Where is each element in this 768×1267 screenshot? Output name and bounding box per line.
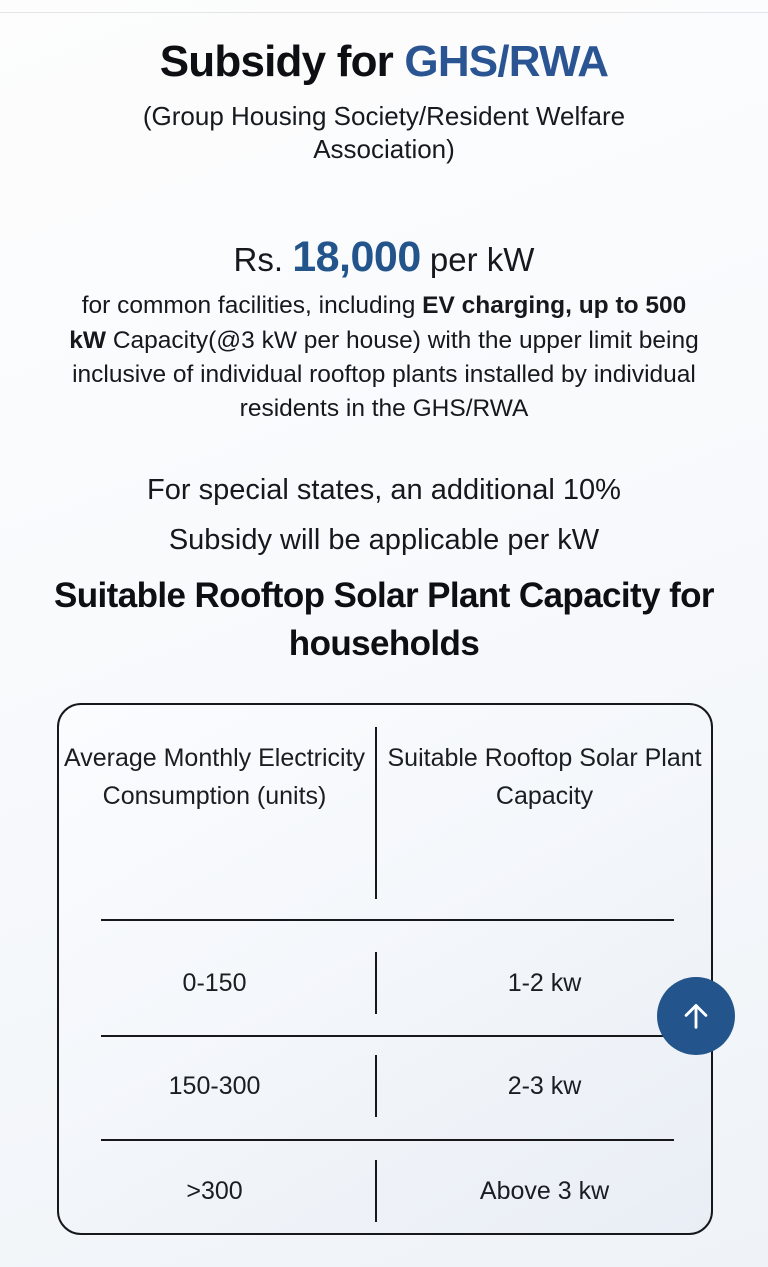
special-states-line-2: Subsidy will be applicable per kW [54,516,714,566]
page-title-main: Subsidy for [160,37,405,86]
table-row: 0-150 1-2 kw [59,968,711,998]
content-column: Subsidy for GHS/RWA (Group Housing Socie… [0,0,768,667]
cell-capacity: 2-3 kw [374,1071,711,1101]
rate-note: for common facilities, including EV char… [64,289,704,426]
capacity-table: Average Monthly Electricity Consumption … [59,705,711,1233]
special-states-line-1: For special states, an additional 10% [54,466,714,516]
capacity-table-card: Average Monthly Electricity Consumption … [57,703,713,1235]
table-header-consumption: Average Monthly Electricity Consumption … [59,739,374,815]
table-rule-1 [101,919,674,921]
page-title: Subsidy for GHS/RWA [30,38,738,86]
table-row: 150-300 2-3 kw [59,1071,711,1101]
page-subtitle: (Group Housing Society/Resident Welfare … [94,100,674,168]
scroll-to-top-button[interactable] [657,977,735,1055]
table-header-capacity: Suitable Rooftop Solar Plant Capacity [374,739,711,815]
rate-suffix: per kW [430,241,535,278]
rate-note-part2: Capacity(@3 kW per house) with the upper… [72,327,699,423]
rate-amount: 18,000 [292,233,421,281]
page-title-accent: GHS/RWA [404,37,608,86]
table-rule-2 [101,1035,674,1037]
cell-capacity: 1-2 kw [374,968,711,998]
cell-consumption: 150-300 [59,1071,374,1101]
cell-consumption: 0-150 [59,968,374,998]
page-root: Subsidy for GHS/RWA (Group Housing Socie… [0,0,768,1267]
cell-capacity: Above 3 kw [374,1176,711,1206]
table-rule-3 [101,1139,674,1141]
arrow-up-icon [678,998,714,1034]
rate-prefix: Rs. [234,241,284,278]
rate-note-part1: for common facilities, including [82,292,422,319]
rate-line: Rs. 18,000 per kW [30,233,738,281]
section-heading: Suitable Rooftop Solar Plant Capacity fo… [54,572,714,667]
table-header-row: Average Monthly Electricity Consumption … [59,739,711,815]
table-row: >300 Above 3 kw [59,1176,711,1206]
cell-consumption: >300 [59,1176,374,1206]
special-states-block: For special states, an additional 10% Su… [54,466,714,566]
